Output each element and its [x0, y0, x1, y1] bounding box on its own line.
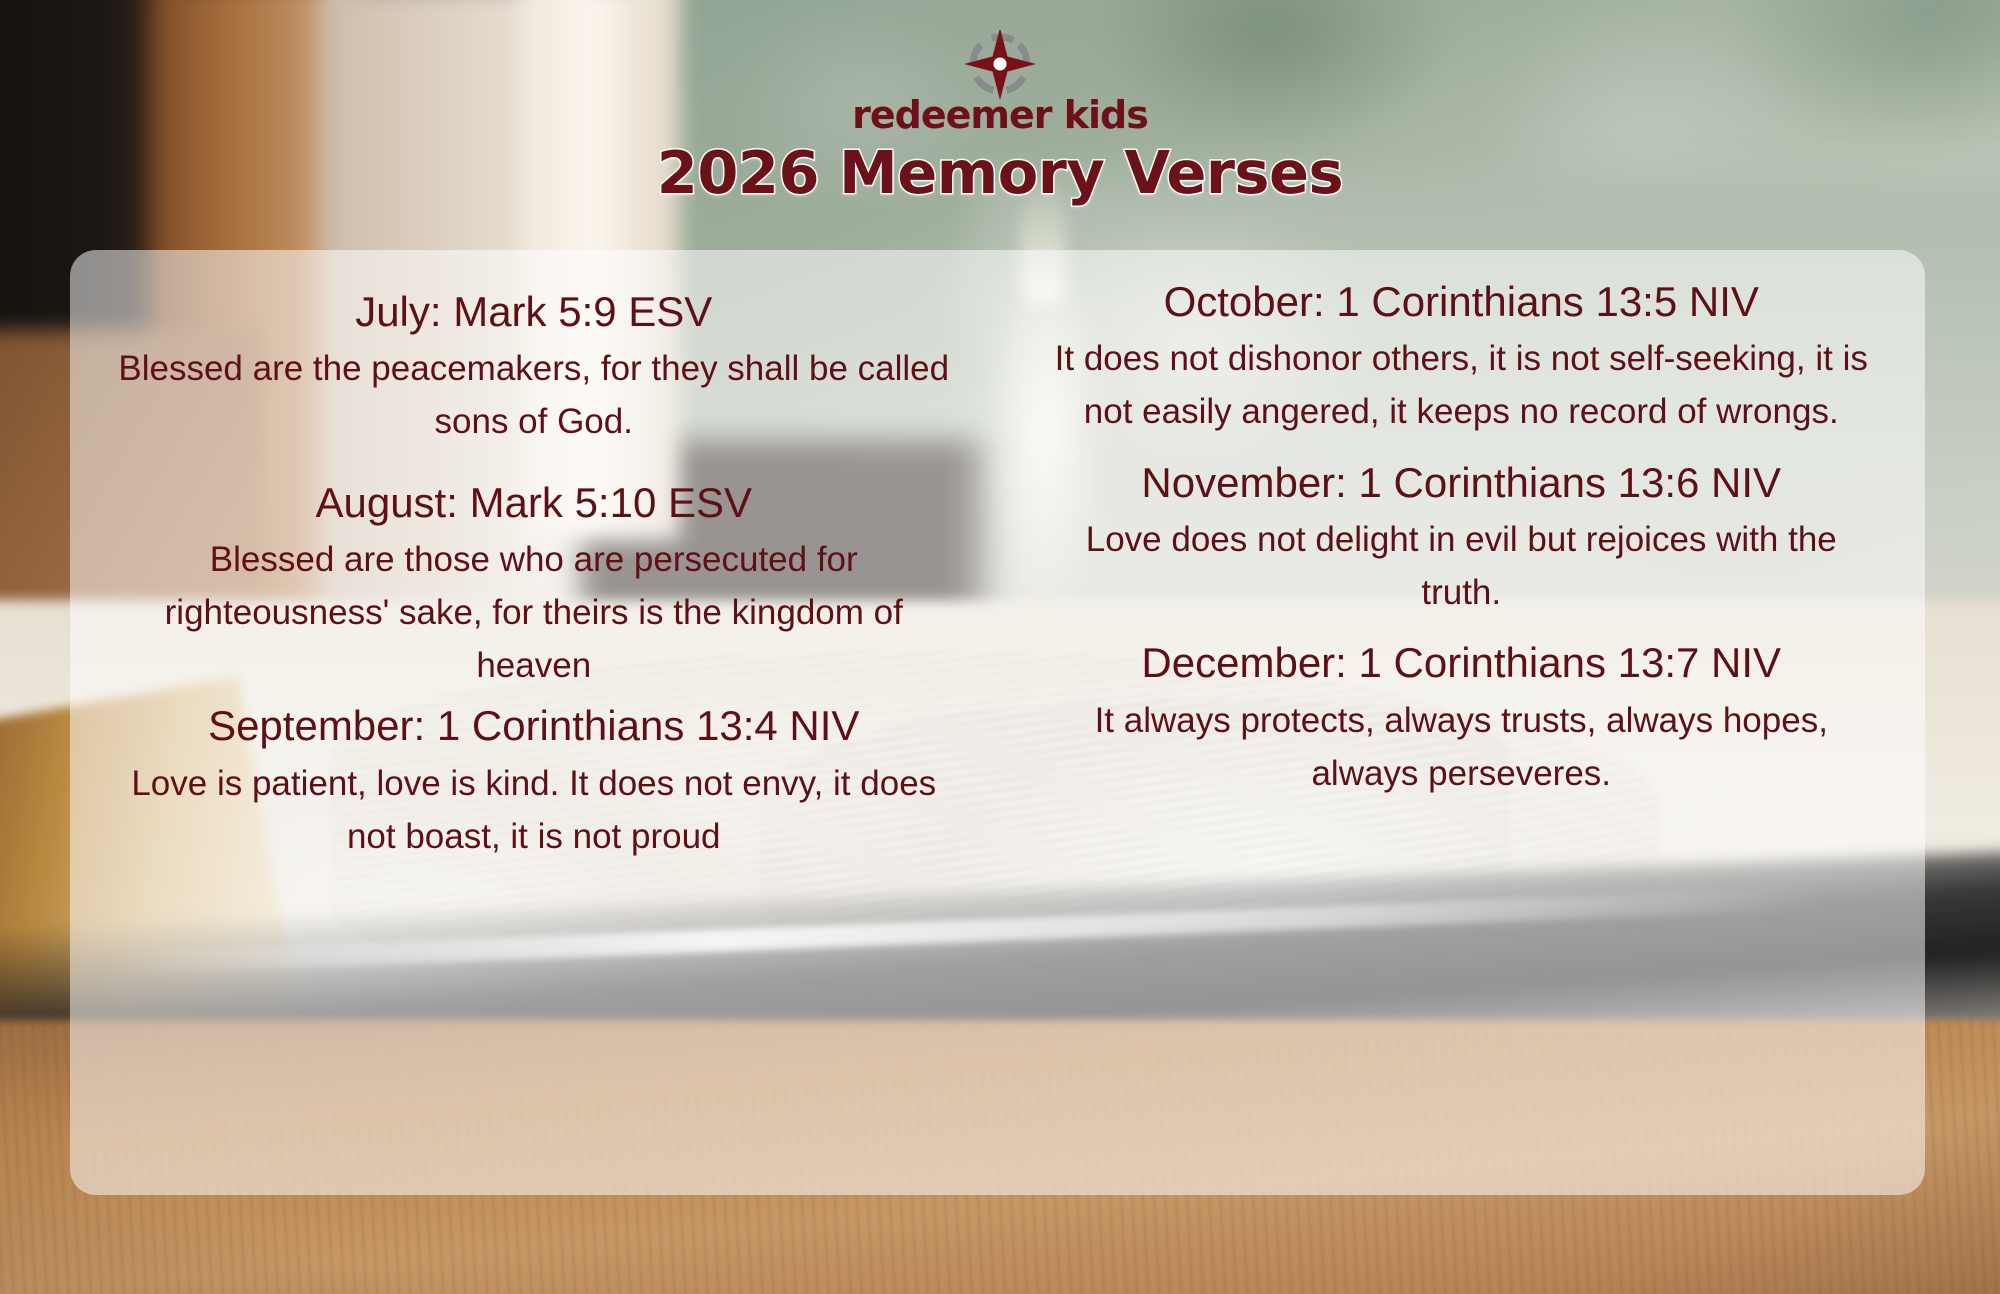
verse-text: It always protects, always trusts, alway…: [1042, 694, 1882, 800]
verse-block-october: October: 1 Corinthians 13:5 NIV It does …: [1042, 274, 1882, 439]
verse-reference: November: 1 Corinthians 13:6 NIV: [1042, 455, 1882, 511]
verse-column-right: October: 1 Corinthians 13:5 NIV It does …: [998, 250, 1926, 1195]
page-title: 2026 Memory Verses: [0, 142, 2000, 204]
verse-block-august: August: Mark 5:10 ESV Blessed are those …: [114, 475, 954, 693]
verse-reference: October: 1 Corinthians 13:5 NIV: [1042, 274, 1882, 330]
compass-star-icon: [958, 30, 1042, 102]
logo-wordmark: redeemer kids: [852, 96, 1148, 134]
verse-reference: August: Mark 5:10 ESV: [114, 475, 954, 531]
verse-text: It does not dishonor others, it is not s…: [1042, 332, 1882, 438]
verse-column-left: July: Mark 5:9 ESV Blessed are the peace…: [70, 250, 998, 1195]
verse-text: Love does not delight in evil but rejoic…: [1042, 513, 1882, 619]
verse-text: Blessed are those who are persecuted for…: [114, 533, 954, 693]
poster-canvas: redeemer kids 2026 Memory Verses July: M…: [0, 0, 2000, 1294]
redeemer-kids-logo: redeemer kids: [852, 30, 1148, 134]
verse-block-september: September: 1 Corinthians 13:4 NIV Love i…: [114, 698, 954, 863]
verse-text: Blessed are the peacemakers, for they sh…: [114, 342, 954, 448]
verse-block-november: November: 1 Corinthians 13:6 NIV Love do…: [1042, 455, 1882, 620]
verse-block-december: December: 1 Corinthians 13:7 NIV It alwa…: [1042, 635, 1882, 800]
verse-block-july: July: Mark 5:9 ESV Blessed are the peace…: [114, 284, 954, 449]
verse-reference: December: 1 Corinthians 13:7 NIV: [1042, 635, 1882, 691]
verse-text: Love is patient, love is kind. It does n…: [114, 757, 954, 863]
verse-columns: July: Mark 5:9 ESV Blessed are the peace…: [70, 250, 1925, 1195]
poster-header: redeemer kids 2026 Memory Verses: [0, 30, 2000, 204]
verse-reference: September: 1 Corinthians 13:4 NIV: [114, 698, 954, 754]
verse-reference: July: Mark 5:9 ESV: [114, 284, 954, 340]
